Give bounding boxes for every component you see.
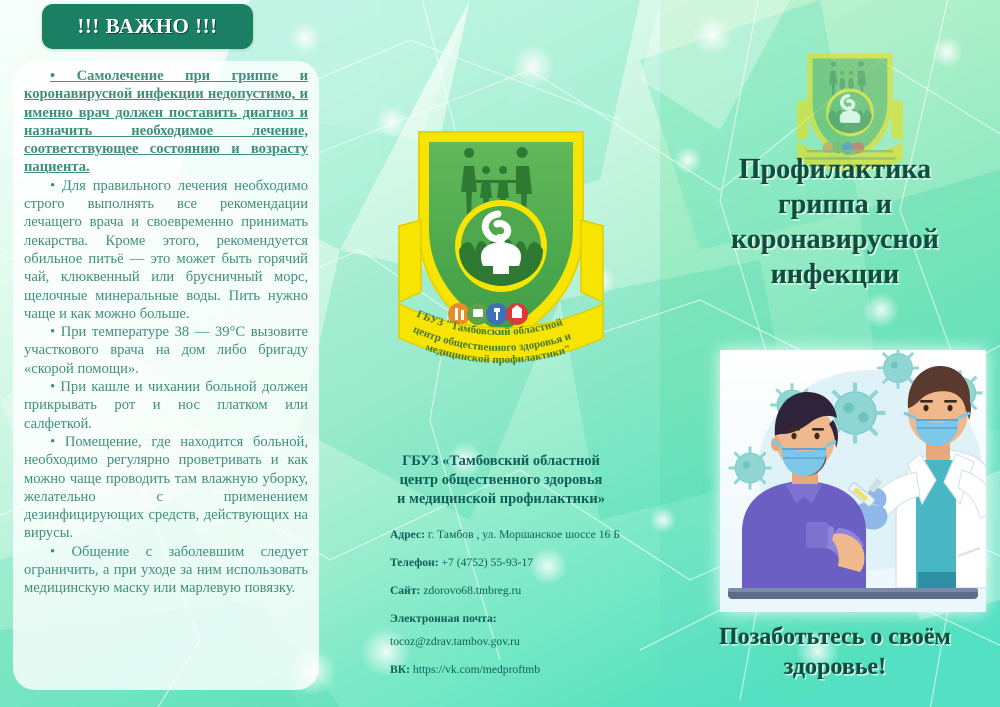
contact-vk-value[interactable]: https://vk.com/medproftmb (413, 663, 540, 676)
tagline: Позаботьтесь о своём здоровье! (679, 622, 991, 682)
organization-name-line-3: и медицинской профилактики» (355, 490, 647, 509)
contact-website-label: Сайт: (390, 584, 420, 597)
contact-email-label-row: Электронная почта: (390, 612, 670, 626)
tambov-public-health-center-emblem-icon: ГБУЗ "Тамбовский областной центр обществ… (397, 118, 605, 380)
contact-address: Адрес: г. Тамбов , ул. Моршанское шоссе … (390, 528, 670, 542)
page-title-line-3: коронавирусной (689, 222, 981, 257)
advice-text-card: • Самолечение при гриппе и коронавирусно… (13, 61, 319, 690)
tambov-public-health-center-emblem-watermark-icon (796, 46, 904, 162)
page-title-line-1: Профилактика (689, 152, 981, 187)
contact-email-value[interactable]: tocoz@zdrav.tambov.gov.ru (390, 635, 520, 648)
contact-address-value: г. Тамбов , ул. Моршанское шоссе 16 Б (428, 528, 620, 541)
advice-paragraph-4: • При кашле и чихании больной должен при… (24, 378, 308, 433)
important-banner: !!! ВАЖНО !!! (42, 4, 253, 49)
organization-name: ГБУЗ «Тамбовский областной центр обществ… (355, 452, 647, 509)
vaccination-illustration (720, 350, 986, 612)
contact-phone-label: Телефон: (390, 556, 439, 569)
organization-name-line-1: ГБУЗ «Тамбовский областной (355, 452, 647, 471)
center-panel: ГБУЗ "Тамбовский областной центр обществ… (333, 0, 667, 707)
advice-paragraph-2: • Для правильного лечения необходимо стр… (24, 177, 308, 323)
right-panel: Профилактика гриппа и коронавирусной инф… (667, 0, 1000, 707)
tagline-line-2: здоровье! (679, 652, 991, 682)
advice-paragraph-6: • Общение с заболевшим следует ограничит… (24, 543, 308, 598)
contact-phone-value[interactable]: +7 (4752) 55-93-17 (442, 556, 534, 569)
contact-website: Сайт: zdorovo68.tmbreg.ru (390, 584, 670, 598)
contact-address-label: Адрес: (390, 528, 425, 541)
contact-block: Адрес: г. Тамбов , ул. Моршанское шоссе … (390, 528, 670, 691)
page-title: Профилактика гриппа и коронавирусной инф… (689, 152, 981, 292)
advice-paragraph-1: • Самолечение при гриппе и коронавирусно… (24, 67, 308, 177)
tagline-line-1: Позаботьтесь о своём (679, 622, 991, 652)
important-banner-label: !!! ВАЖНО !!! (77, 14, 217, 39)
advice-paragraph-5: • Помещение, где находится больной, необ… (24, 433, 308, 543)
page-title-line-2: гриппа и (689, 187, 981, 222)
page-title-line-4: инфекции (689, 257, 981, 292)
contact-vk: ВК: https://vk.com/medproftmb (390, 663, 670, 677)
contact-email-label: Электронная почта: (390, 612, 497, 625)
contact-vk-label: ВК: (390, 663, 410, 676)
organization-name-line-2: центр общественного здоровья (355, 471, 647, 490)
advice-paragraph-3: • При температуре 38 — 39°С вызовите уча… (24, 323, 308, 378)
brochure-page: !!! ВАЖНО !!! • Самолечение при гриппе и… (0, 0, 1000, 707)
contact-phone: Телефон: +7 (4752) 55-93-17 (390, 556, 670, 570)
contact-email-value-row: tocoz@zdrav.tambov.gov.ru (390, 635, 670, 649)
contact-website-value[interactable]: zdorovo68.tmbreg.ru (423, 584, 521, 597)
left-panel: !!! ВАЖНО !!! • Самолечение при гриппе и… (0, 0, 333, 707)
